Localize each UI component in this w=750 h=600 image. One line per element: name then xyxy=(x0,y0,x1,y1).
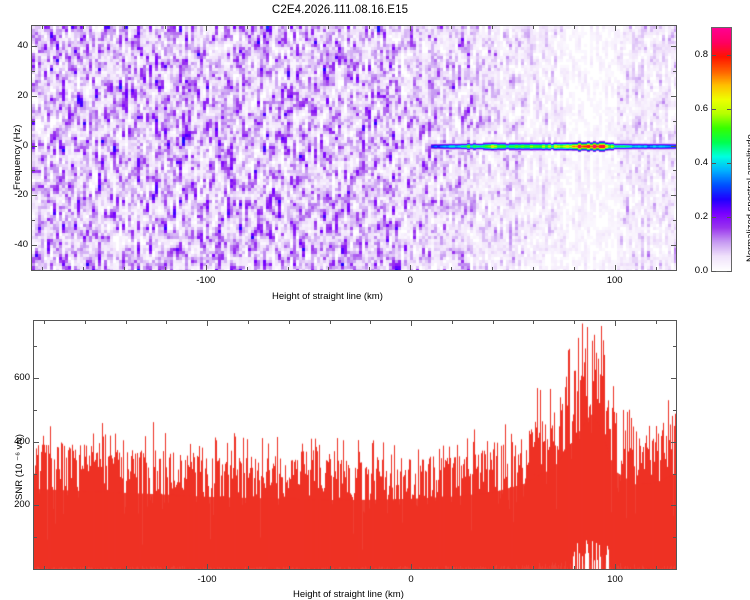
axis-tick xyxy=(32,195,37,196)
axis-tick xyxy=(207,321,208,326)
axis-tick xyxy=(165,26,166,29)
axis-tick xyxy=(288,26,289,29)
axis-tick xyxy=(369,26,370,29)
axis-tick xyxy=(207,564,208,569)
snr-panel xyxy=(33,320,677,570)
axis-tick xyxy=(370,321,371,324)
axis-tick xyxy=(288,267,289,270)
axis-tick xyxy=(727,217,731,218)
axis-tick xyxy=(248,566,249,569)
axis-tick xyxy=(727,109,731,110)
figure-title: C2E4.2026.111.08.16.E15 xyxy=(0,4,680,16)
axis-tick-label: 100 xyxy=(601,574,629,585)
axis-tick xyxy=(533,321,534,324)
axis-tick-label: 0.4 xyxy=(688,157,708,168)
axis-tick-label: 600 xyxy=(6,372,30,383)
axis-tick xyxy=(34,474,37,475)
axis-tick xyxy=(126,566,127,569)
axis-tick xyxy=(32,245,37,246)
axis-tick-label: -20 xyxy=(4,189,28,200)
axis-tick xyxy=(574,566,575,569)
axis-tick-label: 0.8 xyxy=(688,49,708,60)
axis-tick xyxy=(533,566,534,569)
axis-tick xyxy=(671,245,676,246)
axis-tick xyxy=(671,195,676,196)
axis-tick xyxy=(328,26,329,29)
axis-tick xyxy=(370,566,371,569)
axis-tick xyxy=(410,265,411,270)
axis-tick xyxy=(493,566,494,569)
axis-tick xyxy=(85,321,86,324)
axis-tick-label: 20 xyxy=(4,90,28,101)
axis-tick xyxy=(574,267,575,270)
figure-root: C2E4.2026.111.08.16.E15 Frequency (Hz) H… xyxy=(0,0,750,600)
axis-tick xyxy=(34,442,39,443)
axis-tick xyxy=(34,378,39,379)
axis-tick xyxy=(712,109,716,110)
axis-tick xyxy=(42,26,43,29)
axis-tick xyxy=(671,146,676,147)
axis-tick xyxy=(126,321,127,324)
axis-tick xyxy=(166,566,167,569)
axis-tick xyxy=(574,321,575,324)
axis-tick xyxy=(44,566,45,569)
axis-tick-label: 100 xyxy=(601,275,629,286)
axis-tick xyxy=(410,26,411,31)
axis-tick xyxy=(32,146,37,147)
axis-tick xyxy=(83,267,84,270)
axis-tick xyxy=(615,265,616,270)
axis-tick-label: -100 xyxy=(193,574,221,585)
axis-tick xyxy=(533,267,534,270)
axis-tick-label: 0.6 xyxy=(688,103,708,114)
axis-tick xyxy=(727,163,731,164)
snr-trace xyxy=(34,321,676,569)
axis-tick xyxy=(671,96,676,97)
axis-tick xyxy=(32,170,35,171)
axis-tick xyxy=(206,26,207,31)
axis-tick xyxy=(42,267,43,270)
axis-tick xyxy=(165,267,166,270)
axis-tick-label: 40 xyxy=(4,40,28,51)
axis-tick xyxy=(289,321,290,324)
axis-tick xyxy=(330,321,331,324)
axis-tick xyxy=(712,55,716,56)
axis-tick xyxy=(727,271,731,272)
axis-tick xyxy=(673,537,676,538)
axis-tick xyxy=(452,321,453,324)
axis-tick xyxy=(671,442,676,443)
axis-tick xyxy=(369,267,370,270)
axis-tick xyxy=(574,26,575,29)
axis-tick-label: 0.0 xyxy=(688,265,708,276)
axis-tick xyxy=(656,267,657,270)
snr-x-axis-label: Height of straight line (km) xyxy=(293,589,404,600)
axis-tick-label: 0.2 xyxy=(688,211,708,222)
axis-tick xyxy=(34,410,37,411)
axis-tick xyxy=(328,267,329,270)
axis-tick-label: 0 xyxy=(396,275,424,286)
axis-tick xyxy=(656,321,657,324)
axis-tick-label: -100 xyxy=(192,275,220,286)
axis-tick xyxy=(83,26,84,29)
axis-tick xyxy=(451,26,452,29)
axis-tick xyxy=(671,378,676,379)
axis-tick xyxy=(712,217,716,218)
axis-tick xyxy=(411,564,412,569)
axis-tick xyxy=(673,170,676,171)
axis-tick xyxy=(615,321,616,326)
axis-tick xyxy=(124,267,125,270)
axis-tick xyxy=(34,505,39,506)
axis-tick xyxy=(673,220,676,221)
axis-tick xyxy=(32,46,37,47)
axis-tick xyxy=(411,321,412,326)
axis-tick-label: -40 xyxy=(4,239,28,250)
axis-tick xyxy=(492,267,493,270)
axis-tick xyxy=(44,321,45,324)
colorbar-label: Normalized spectral amplitude xyxy=(745,134,750,262)
axis-tick xyxy=(615,26,616,31)
spectrogram-x-axis-label: Height of straight line (km) xyxy=(272,291,383,302)
axis-tick xyxy=(712,271,716,272)
colorbar-gradient xyxy=(712,28,731,271)
axis-tick xyxy=(452,566,453,569)
axis-tick xyxy=(673,410,676,411)
axis-tick xyxy=(673,121,676,122)
axis-tick-label: 200 xyxy=(6,499,30,510)
axis-tick xyxy=(673,474,676,475)
axis-tick xyxy=(615,564,616,569)
axis-tick xyxy=(493,321,494,324)
axis-tick-label: 0 xyxy=(397,574,425,585)
axis-tick xyxy=(247,26,248,29)
axis-tick xyxy=(533,26,534,29)
axis-tick xyxy=(671,46,676,47)
axis-tick xyxy=(166,321,167,324)
colorbar xyxy=(711,27,732,272)
axis-tick xyxy=(289,566,290,569)
axis-tick xyxy=(206,265,207,270)
axis-tick xyxy=(32,96,37,97)
axis-tick xyxy=(34,346,37,347)
axis-tick xyxy=(673,346,676,347)
axis-tick xyxy=(451,267,452,270)
axis-tick xyxy=(330,566,331,569)
axis-tick xyxy=(712,163,716,164)
axis-tick-label: 400 xyxy=(6,436,30,447)
axis-tick xyxy=(124,26,125,29)
axis-tick xyxy=(32,71,35,72)
axis-tick xyxy=(656,26,657,29)
axis-tick xyxy=(671,505,676,506)
axis-tick xyxy=(656,566,657,569)
spectrogram-panel xyxy=(31,25,677,271)
spectrogram-y-axis-label: Frequency (Hz) xyxy=(12,125,23,190)
axis-tick xyxy=(673,71,676,72)
axis-tick xyxy=(85,566,86,569)
axis-tick xyxy=(727,55,731,56)
spectrogram-image xyxy=(32,26,676,270)
axis-tick-label: 0 xyxy=(4,140,28,151)
axis-tick xyxy=(248,321,249,324)
axis-tick xyxy=(32,220,35,221)
axis-tick xyxy=(492,26,493,29)
axis-tick xyxy=(247,267,248,270)
axis-tick xyxy=(32,121,35,122)
axis-tick xyxy=(34,537,37,538)
